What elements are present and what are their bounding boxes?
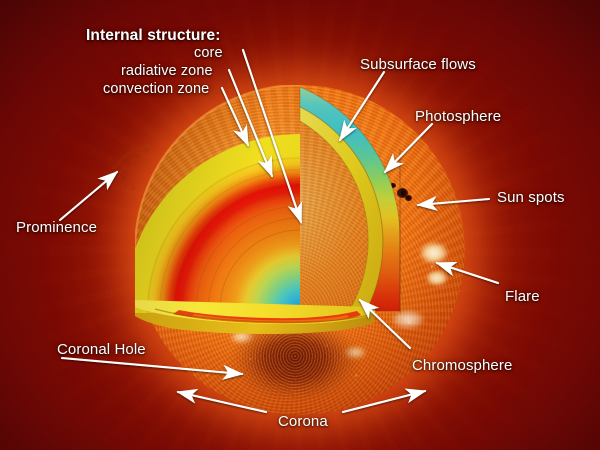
label-photosphere: Photosphere	[415, 108, 501, 125]
leader-flare	[437, 263, 498, 283]
page-title: Internal structure:	[86, 27, 221, 45]
label-subsurface-flows: Subsurface flows	[360, 56, 476, 73]
leader-corona-left	[178, 392, 266, 412]
label-sun-spots: Sun spots	[497, 189, 565, 206]
leader-sun-spots	[418, 199, 489, 205]
leader-photosphere	[385, 124, 432, 172]
label-radiative-zone: radiative zone	[121, 63, 213, 80]
label-corona: Corona	[278, 413, 328, 430]
label-chromosphere: Chromosphere	[412, 357, 512, 374]
leader-coronal-hole	[62, 358, 242, 374]
leader-core	[243, 50, 301, 222]
leader-chromosphere	[360, 300, 410, 348]
leader-prominence	[60, 172, 117, 220]
label-prominence: Prominence	[16, 219, 97, 236]
label-coronal-hole: Coronal Hole	[57, 341, 146, 358]
label-core: core	[194, 45, 223, 62]
leader-subsurface-flows	[340, 72, 384, 140]
solar-structure-diagram: Internal structure: core radiative zone …	[0, 0, 600, 450]
leader-corona-right	[343, 391, 425, 412]
label-convection-zone: convection zone	[103, 81, 209, 98]
label-flare: Flare	[505, 288, 540, 305]
leader-radiative-zone	[229, 70, 272, 176]
leader-convection-zone	[222, 88, 248, 145]
